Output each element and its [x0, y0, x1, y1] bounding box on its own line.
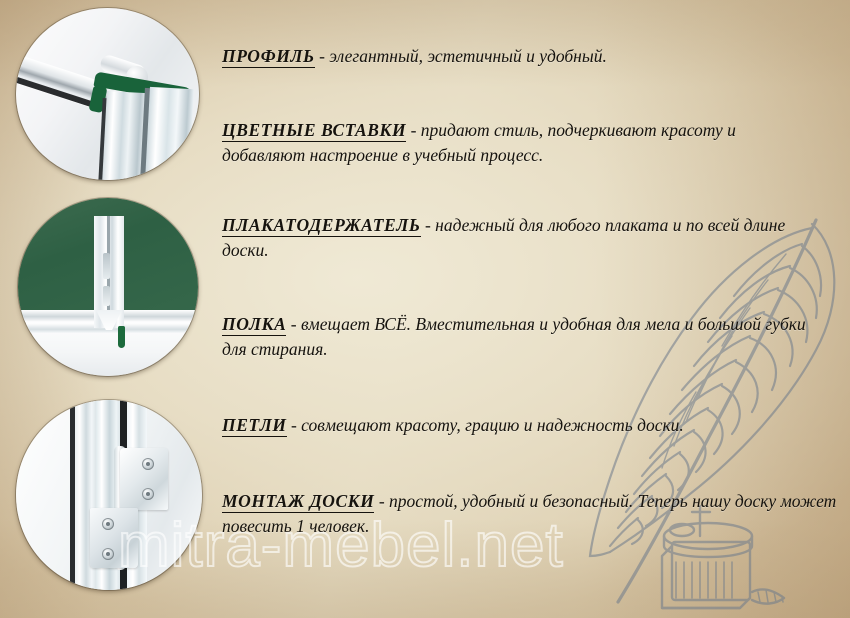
feature-term: МОНТАЖ ДОСКИ — [222, 491, 374, 513]
feature-body: - вмещает ВСЁ. Вместительная и удобная д… — [222, 314, 806, 359]
feature-entry-poster-holder: ПЛАКАТОДЕРЖАТЕЛЬ - надежный для любого п… — [222, 213, 812, 263]
poster-holder-photo — [18, 198, 198, 376]
feature-body: - элегантный, эстетичный и удобный. — [315, 46, 607, 66]
hinge-photo — [16, 400, 202, 590]
feature-term: ПЕТЛИ — [222, 415, 287, 437]
feature-entry-hinges: ПЕТЛИ - совмещают красоту, грацию и наде… — [222, 413, 832, 438]
feature-term: ПРОФИЛЬ — [222, 46, 315, 68]
feature-term: ПОЛКА — [222, 314, 286, 336]
feature-entry-shelf: ПОЛКА - вмещает ВСЁ. Вместительная и удо… — [222, 312, 807, 362]
feature-body: - совмещают красоту, грацию и надежность… — [287, 415, 684, 435]
profile-photo — [16, 8, 199, 180]
feature-term: ПЛАКАТОДЕРЖАТЕЛЬ — [222, 215, 421, 237]
feature-entry-profile: ПРОФИЛЬ - элегантный, эстетичный и удобн… — [222, 44, 607, 69]
feature-entry-color-inserts: ЦВЕТНЫЕ ВСТАВКИ - придают стиль, подчерк… — [222, 118, 822, 168]
feature-term: ЦВЕТНЫЕ ВСТАВКИ — [222, 120, 406, 142]
poster-canvas: mitra-mebel.net ПРОФИЛЬ - элегантный, эс… — [0, 0, 850, 618]
feature-entry-mounting: МОНТАЖ ДОСКИ - простой, удобный и безопа… — [222, 489, 837, 539]
